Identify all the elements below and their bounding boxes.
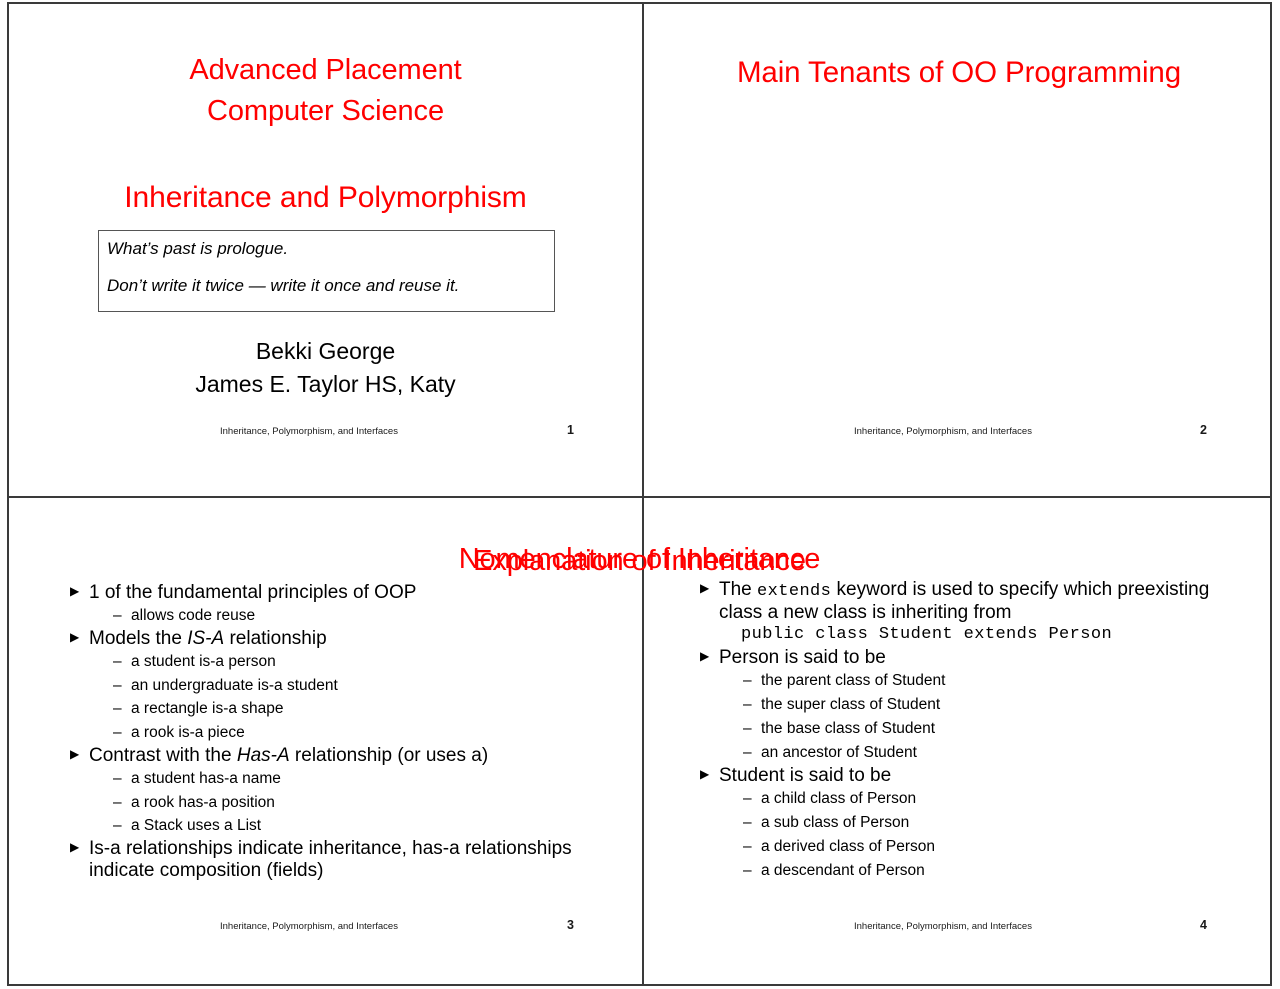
slide-1-page-number: 1 [567, 423, 574, 437]
sub-bullet-label: an ancestor of Student [761, 744, 917, 761]
handout-page: Advanced Placement Computer Science Inhe… [7, 2, 1272, 986]
bullet-is-a-has-a-summary-label: Is-a relationships indicate inheritance,… [89, 838, 572, 881]
dash-bullet-icon: – [743, 859, 752, 883]
bullet-is-a-emphasis: IS-A [187, 628, 224, 649]
triangle-bullet-icon: ▶ [70, 584, 79, 600]
sub-bullet-label: the super class of Student [761, 696, 940, 713]
bullet-is-a-pre: Models the [89, 628, 187, 649]
triangle-bullet-icon: ▶ [700, 649, 709, 665]
sub-bullet-label: a student has-a name [131, 770, 281, 787]
bullet-has-a-pre: Contrast with the [89, 745, 237, 766]
sub-bullet-label: a child class of Person [761, 790, 916, 807]
sub-bullet-label: a derived class of Person [761, 838, 935, 855]
dash-bullet-icon: – [743, 787, 752, 811]
sub-bullet: – a rook is-a piece [89, 721, 627, 745]
triangle-bullet-icon: ▶ [700, 581, 709, 597]
bullet-extends-pre: The [719, 579, 757, 600]
slide-2-page-number: 2 [1200, 423, 1207, 437]
dash-bullet-icon: – [113, 604, 122, 628]
dash-bullet-icon: – [743, 835, 752, 859]
bullet-is-a-post: relationship [224, 628, 326, 649]
bullet-student-said-to-be-label: Student is said to be [719, 765, 891, 786]
sub-bullet: – allows code reuse [89, 604, 627, 628]
bullet-has-a-relationship: ▶Contrast with the Has-A relationship (o… [67, 745, 627, 838]
sub-bullet: – the super class of Student [719, 693, 1242, 717]
sub-bullet-label: a rook has-a position [131, 794, 275, 811]
sub-list-person: – the parent class of Student – the supe… [719, 669, 1242, 765]
dash-bullet-icon: – [743, 669, 752, 693]
slide-4-title: Nomenclature of Inheritance [9, 539, 1270, 580]
sub-bullet: – a Stack uses a List [89, 814, 627, 838]
dash-bullet-icon: – [113, 791, 122, 815]
dash-bullet-icon: – [113, 721, 122, 745]
bullet-has-a-emphasis: Has-A [237, 745, 290, 766]
sub-bullet: – an undergraduate is-a student [89, 674, 627, 698]
bullet-has-a-post: relationship (or uses a) [290, 745, 489, 766]
sub-bullet-label: an undergraduate is-a student [131, 677, 338, 694]
slide-3-page-number: 3 [567, 918, 574, 932]
slide-3-footer: Inheritance, Polymorphism, and Interface… [220, 921, 398, 932]
bullet-student-said-to-be: ▶ Student is said to be – a child class … [697, 765, 1242, 883]
slide-1-title-line-1: Advanced Placement [9, 50, 642, 91]
slide-2-footer: Inheritance, Polymorphism, and Interface… [854, 426, 1032, 437]
dash-bullet-icon: – [113, 814, 122, 838]
dash-bullet-icon: – [743, 717, 752, 741]
sub-bullet: – a rectangle is-a shape [89, 697, 627, 721]
slide-1-title-line-2: Computer Science [9, 91, 642, 132]
sub-bullet: – a student has-a name [89, 767, 627, 791]
bullet-person-said-to-be: ▶ Person is said to be – the parent clas… [697, 647, 1242, 765]
dash-bullet-icon: – [743, 693, 752, 717]
slide-1[interactable]: Advanced Placement Computer Science Inhe… [9, 4, 642, 496]
sub-bullet: – the base class of Student [719, 717, 1242, 741]
triangle-bullet-icon: ▶ [70, 630, 79, 646]
sub-bullet: – a derived class of Person [719, 835, 1242, 859]
author-name: Bekki George [9, 335, 642, 368]
triangle-bullet-icon: ▶ [700, 767, 709, 783]
sub-bullet-label: a rook is-a piece [131, 724, 245, 741]
triangle-bullet-icon: ▶ [70, 747, 79, 763]
dash-bullet-icon: – [113, 650, 122, 674]
dash-bullet-icon: – [113, 767, 122, 791]
sub-bullet: – a student is-a person [89, 650, 627, 674]
sub-bullet-label: allows code reuse [131, 607, 255, 624]
bullet-fundamental-principles: ▶ 1 of the fundamental principles of OOP… [67, 582, 627, 628]
code-sample-line: public class Student extends Person [719, 624, 1242, 646]
sub-bullet: – a rook has-a position [89, 791, 627, 815]
slide-4-body: ▶The extends keyword is used to specify … [697, 579, 1242, 883]
sub-bullet-label: a rectangle is-a shape [131, 700, 284, 717]
sub-bullet: – an ancestor of Student [719, 741, 1242, 765]
bullet-is-a-has-a-summary: ▶ Is-a relationships indicate inheritanc… [67, 838, 627, 883]
triangle-bullet-icon: ▶ [70, 840, 79, 856]
slide-1-footer: Inheritance, Polymorphism, and Interface… [220, 426, 398, 437]
slide-4-bullet-list: ▶The extends keyword is used to specify … [697, 579, 1242, 883]
slide-1-title: Advanced Placement Computer Science [9, 50, 642, 132]
sub-bullet-label: a descendant of Person [761, 862, 925, 879]
sub-bullet-label: the base class of Student [761, 720, 935, 737]
bullet-extends-keyword: ▶The extends keyword is used to specify … [697, 579, 1242, 647]
sub-list-principles: – allows code reuse [89, 604, 627, 628]
slide-4-page-number: 4 [1200, 918, 1207, 932]
dash-bullet-icon: – [743, 741, 752, 765]
author-block: Bekki George James E. Taylor HS, Katy [9, 335, 642, 400]
slide-3-bullet-list: ▶ 1 of the fundamental principles of OOP… [67, 582, 627, 882]
sub-bullet: – a child class of Person [719, 787, 1242, 811]
quote-line-2: Don’t write it twice — write it once and… [107, 276, 554, 296]
sub-list-is-a: – a student is-a person – an undergradua… [89, 650, 627, 744]
slide-2[interactable]: Main Tenants of OO Programming ▶ Encapsu… [644, 4, 1274, 496]
sub-bullet-label: a Stack uses a List [131, 817, 261, 834]
author-school: James E. Taylor HS, Katy [9, 368, 642, 401]
dash-bullet-icon: – [113, 697, 122, 721]
slide-1-subtitle: Inheritance and Polymorphism [9, 177, 642, 220]
quote-box: What’s past is prologue. Don’t write it … [98, 230, 555, 312]
bullet-person-said-to-be-label: Person is said to be [719, 647, 886, 668]
sub-list-student: – a child class of Person – a sub class … [719, 787, 1242, 883]
slide-2-title: Main Tenants of OO Programming [648, 52, 1270, 94]
slide-4-footer: Inheritance, Polymorphism, and Interface… [854, 921, 1032, 932]
bullet-fundamental-principles-label: 1 of the fundamental principles of OOP [89, 582, 416, 603]
sub-bullet: – the parent class of Student [719, 669, 1242, 693]
sub-bullet: – a descendant of Person [719, 859, 1242, 883]
bullet-is-a-relationship: ▶Models the IS-A relationship – a studen… [67, 628, 627, 745]
quote-spacer [107, 259, 554, 276]
sub-bullet-label: the parent class of Student [761, 672, 945, 689]
sub-bullet-label: a student is-a person [131, 653, 276, 670]
dash-bullet-icon: – [743, 811, 752, 835]
bullet-extends-code: extends [757, 582, 831, 601]
sub-bullet: – a sub class of Person [719, 811, 1242, 835]
dash-bullet-icon: – [113, 674, 122, 698]
sub-list-has-a: – a student has-a name – a rook has-a po… [89, 767, 627, 838]
quote-line-1: What’s past is prologue. [107, 239, 554, 259]
slide-3-body: ▶ 1 of the fundamental principles of OOP… [67, 582, 627, 882]
sub-bullet-label: a sub class of Person [761, 814, 909, 831]
